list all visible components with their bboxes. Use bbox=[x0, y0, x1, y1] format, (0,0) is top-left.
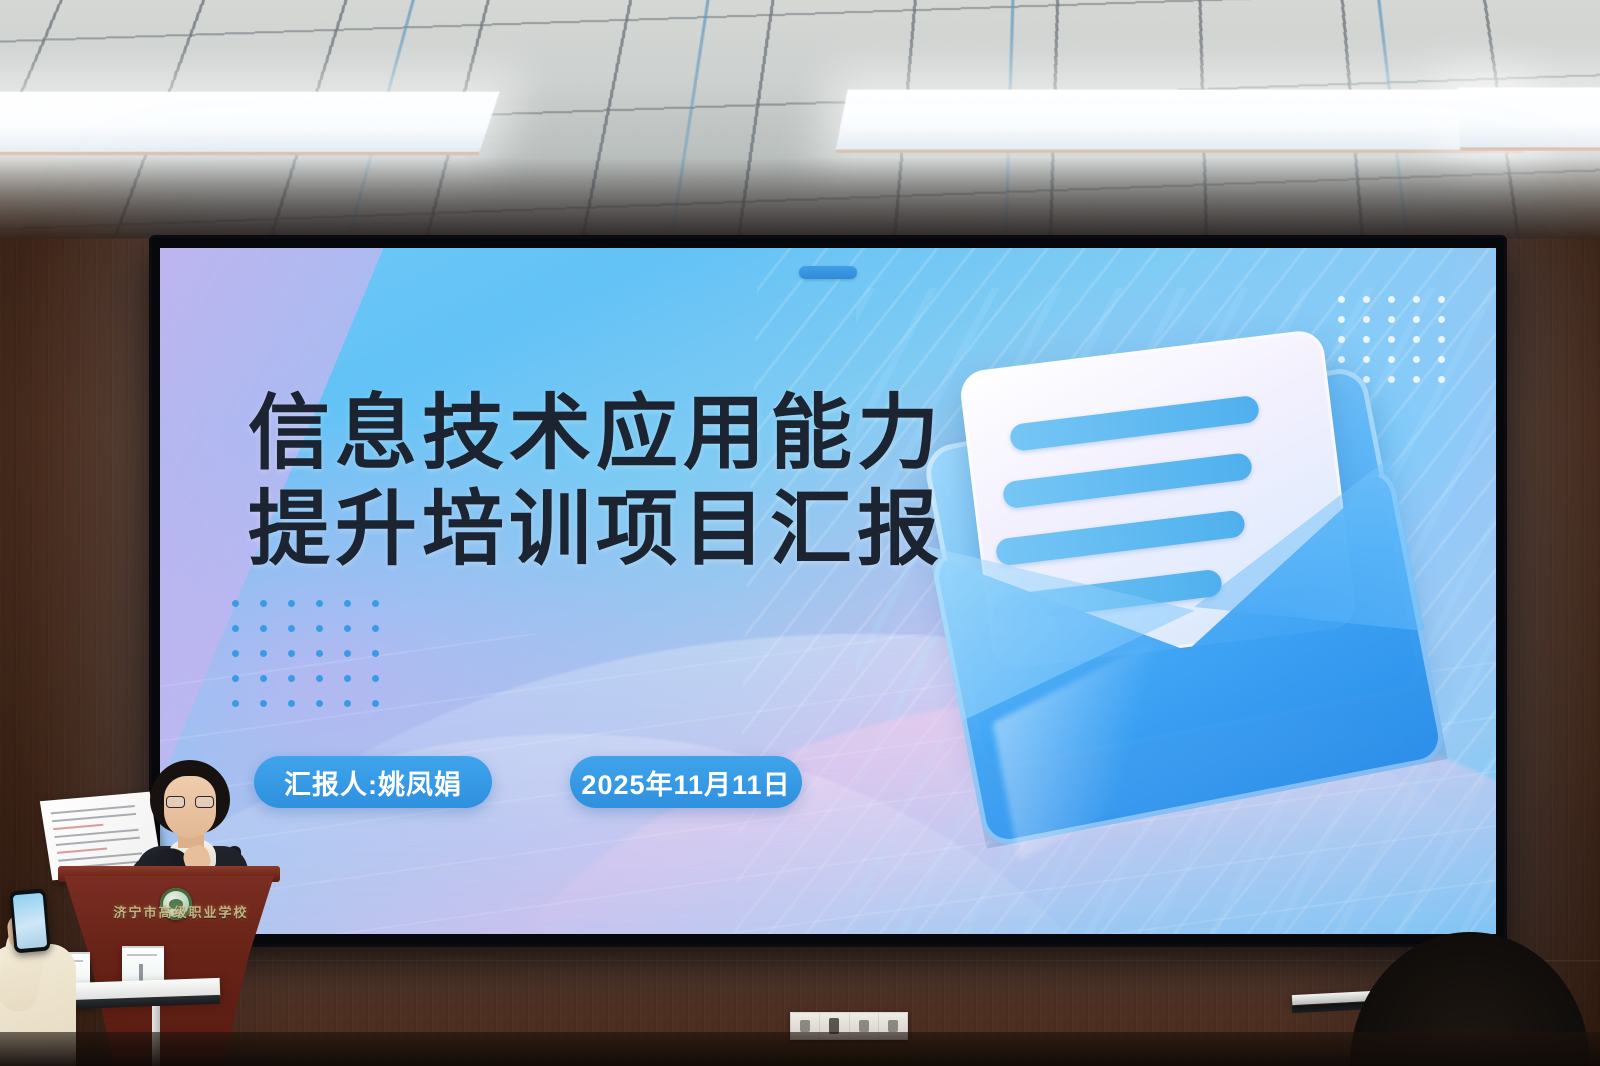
envelope-3d-icon bbox=[862, 310, 1496, 934]
presenter-pill: 汇报人:姚凤娟 bbox=[254, 756, 492, 808]
floor-shadow bbox=[0, 1032, 1600, 1066]
ceiling-edge-shadow bbox=[0, 157, 1600, 238]
date-pill: 2025年11月11日 bbox=[570, 756, 802, 808]
suspended-tile-ceiling bbox=[0, 0, 1600, 238]
podium-inscription: 济宁市高级职业学校 bbox=[96, 902, 266, 921]
smartphone-icon[interactable] bbox=[9, 889, 50, 954]
phone-screen bbox=[13, 893, 48, 949]
ceiling-light-panel bbox=[1458, 87, 1600, 150]
slide-title-line2: 提升培训项目汇报 bbox=[248, 484, 944, 577]
ceiling-light-panel bbox=[0, 92, 500, 155]
slide-top-notch bbox=[799, 266, 857, 279]
slide-meta-row: 汇报人:姚凤娟 2025年11月11日 bbox=[254, 756, 802, 808]
ceiling-light-panel bbox=[835, 90, 1526, 153]
led-display-frame: 信息技术应用能力 提升培训项目汇报 汇报人:姚凤娟 2025年11月11日 bbox=[152, 238, 1504, 944]
conference-room-scene: 信息技术应用能力 提升培训项目汇报 汇报人:姚凤娟 2025年11月11日 bbox=[0, 0, 1600, 1066]
glasses-icon bbox=[166, 796, 214, 808]
dot-grid-bottom-left-icon bbox=[232, 600, 396, 720]
presentation-slide[interactable]: 信息技术应用能力 提升培训项目汇报 汇报人:姚凤娟 2025年11月11日 bbox=[160, 248, 1496, 934]
slide-title-line1: 信息技术应用能力 bbox=[248, 388, 944, 481]
